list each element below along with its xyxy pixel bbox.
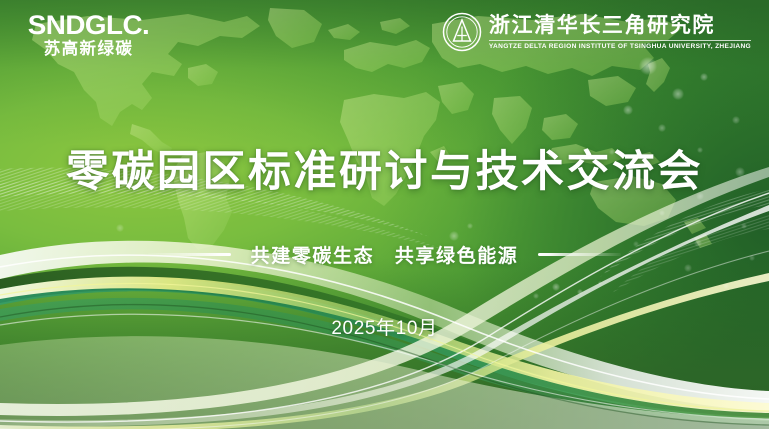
conference-banner: SNDGLC. 苏高新绿碳 浙江清华长三角研究院 YANGTZE DELTA R… [0,0,769,429]
bokeh-particle-icon [741,223,748,230]
bokeh-particle-icon [577,289,583,295]
bokeh-particle-icon [552,283,561,292]
sndglc-wordmark: SNDGLC. [24,11,153,39]
bokeh-particle-icon [700,73,709,82]
bokeh-particle-icon [672,88,684,100]
bokeh-particle-icon [467,223,473,229]
bokeh-particle-icon [732,116,740,124]
institute-chinese-name: 浙江清华长三角研究院 [489,14,751,38]
page-title: 零碳园区标准研讨与技术交流会 [0,146,769,198]
tsinghua-circle-emblem-icon [442,12,482,52]
bokeh-particle-icon [116,224,124,232]
event-date: 2025年10月 [0,313,769,340]
subtitle-rule-left [148,253,231,256]
sndglc-chinese-name: 苏高新绿碳 [26,40,151,59]
bokeh-particle-layer [0,0,769,429]
institute-english-name: YANGTZE DELTA REGION INSTITUTE OF TSINGH… [489,40,751,51]
subtitle-rule-right [538,253,621,256]
sndglc-logo: SNDGLC. 苏高新绿碳 [26,11,151,63]
bokeh-particle-icon [659,210,665,216]
bokeh-particle-icon [658,124,665,131]
bokeh-particle-icon [623,105,633,115]
tsinghua-institute-logo: 浙江清华长三角研究院 YANGTZE DELTA REGION INSTITUT… [442,12,751,52]
subtitle-row: 共建零碳生态 共享绿色能源 [0,241,769,268]
bokeh-particle-icon [533,293,539,299]
subtitle-text: 共建零碳生态 共享绿色能源 [251,241,519,268]
bokeh-particle-icon [449,231,459,241]
bokeh-particle-icon [598,281,603,286]
bokeh-particle-icon [639,57,657,75]
bokeh-particle-icon [723,283,729,289]
